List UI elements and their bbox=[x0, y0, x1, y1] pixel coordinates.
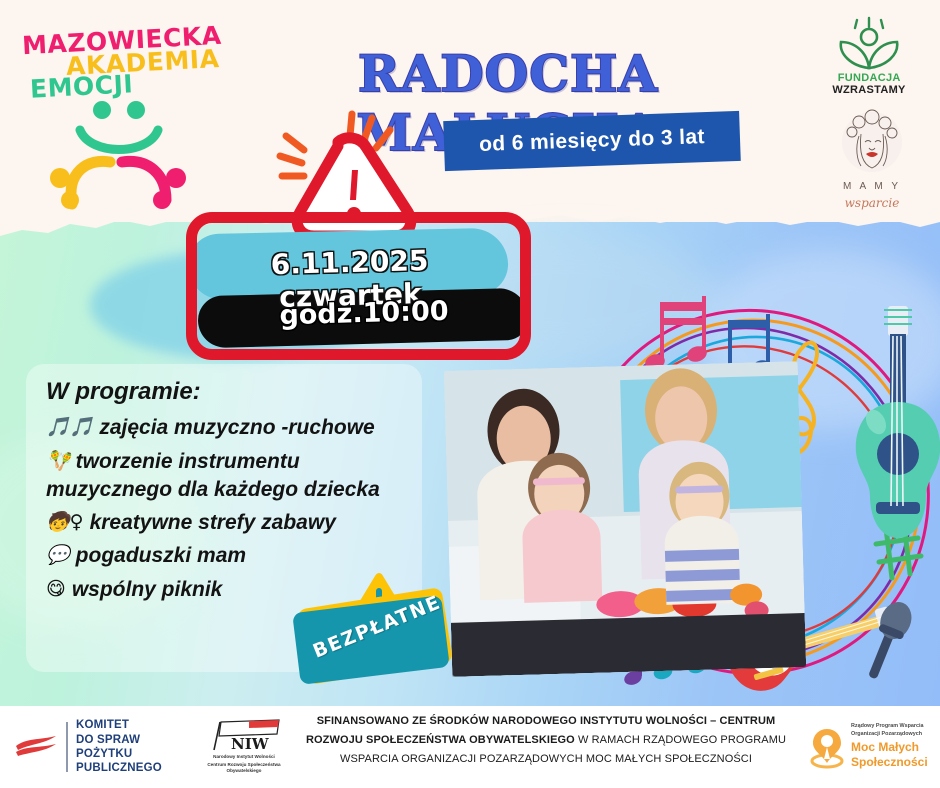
komitet-line-1: KOMITET bbox=[76, 718, 162, 732]
moc-big-2: Społeczności bbox=[851, 756, 936, 769]
age-range-label: od 6 miesięcy do 3 lat bbox=[443, 111, 741, 171]
logo-komitet: KOMITET DO SPRAW POŻYTKU PUBLICZNEGO bbox=[14, 716, 162, 778]
logo-mamy-word2: wsparcie bbox=[845, 196, 900, 210]
funding-line-2-bold: ROZWOJU SPOŁECZEŃSTWA OBYWATELSKIEGO bbox=[306, 734, 575, 746]
free-badge: BEZPŁATNE bbox=[296, 592, 454, 680]
programme-item-continuation: muzycznego dla każdego dziecka bbox=[46, 478, 406, 502]
acoustic-guitar-icon bbox=[846, 306, 940, 568]
logo-fw-word1: FUNDACJA bbox=[838, 72, 901, 84]
logo-fw-text: FUNDACJA WZRASTAMY bbox=[806, 72, 932, 96]
logo-niw: NIW Narodowy Instytut Wolności Centrum R… bbox=[196, 718, 292, 775]
event-photo bbox=[444, 361, 806, 677]
smiling-face-icon: 😋 bbox=[46, 578, 66, 602]
logo-mamy-wsparcie: M A M Y wsparcie bbox=[816, 106, 928, 200]
speech-bubble-icon: 💬 bbox=[46, 544, 70, 568]
photo-subjects bbox=[444, 361, 806, 677]
niw-sub-2: Centrum Rozwoju Społeczeństwa Obywatelsk… bbox=[196, 762, 292, 774]
maracas-icon: 🪇 bbox=[46, 450, 70, 474]
komitet-line-3: POŻYTKU bbox=[76, 747, 162, 761]
floral-woman-icon bbox=[835, 106, 909, 176]
logo-moc-malych-spolecznosci: Rządowy Program Wsparcia Organizacji Poz… bbox=[808, 714, 936, 778]
programme-item-label: wspólny piknik bbox=[72, 578, 223, 603]
funding-line-1: SFINANSOWANO ZE ŚRODKÓW NARODOWEGO INSTY… bbox=[317, 715, 776, 727]
programme-item-label: tworzenie instrumentu bbox=[76, 450, 300, 475]
svg-text:NIW: NIW bbox=[231, 735, 270, 753]
logo-fw-word2: WZRASTAMY bbox=[832, 84, 905, 96]
programme-item: 🪇 tworzenie instrumentu bbox=[46, 450, 406, 475]
polish-flag-icon bbox=[14, 734, 58, 760]
music-notes-icon: 🎵🎵 bbox=[46, 416, 93, 440]
programme-item: 🎵🎵 zajęcia muzyczno -ruchowe bbox=[46, 416, 406, 441]
programme-item-label: zajęcia muzyczno -ruchowe bbox=[99, 416, 374, 441]
komitet-line-4: PUBLICZNEGO bbox=[76, 761, 162, 775]
smiley-person-icon bbox=[44, 96, 194, 212]
child-play-icon: 🧒♀ bbox=[46, 511, 84, 535]
niw-sub-1: Narodowy Instytut Wolności bbox=[196, 754, 292, 760]
niw-mark-icon: NIW bbox=[205, 718, 283, 752]
moc-small-text: Rządowy Program Wsparcia Organizacji Poz… bbox=[851, 723, 936, 739]
programme-item: 💬 pogaduszki mam bbox=[46, 544, 406, 569]
microphone-icon bbox=[862, 600, 918, 686]
moc-mark-icon bbox=[808, 723, 846, 769]
poster-root: MAZOWIECKA AKADEMIA EMOCJI RADOCHA MALUC… bbox=[0, 0, 940, 788]
moc-text: Rządowy Program Wsparcia Organizacji Poz… bbox=[851, 723, 936, 769]
divider bbox=[66, 722, 68, 772]
age-range-banner: od 6 miesięcy do 3 lat bbox=[443, 111, 741, 171]
programme-item-label: kreatywne strefy zabawy bbox=[90, 511, 336, 536]
logo-mamy-word1: M A M Y bbox=[843, 181, 901, 192]
funding-line-3: WSPARCIA ORGANIZACJI POZARZĄDOWYCH MOC M… bbox=[292, 750, 800, 769]
logo-komitet-text: KOMITET DO SPRAW POŻYTKU PUBLICZNEGO bbox=[76, 718, 162, 776]
programme-heading: W programie: bbox=[46, 378, 406, 406]
logo-mamy-text: M A M Y wsparcie bbox=[816, 176, 928, 212]
logo-fundacja-wzrastamy: FUNDACJA WZRASTAMY bbox=[806, 18, 932, 98]
komitet-line-2: DO SPRAW bbox=[76, 733, 162, 747]
funding-statement: SFINANSOWANO ZE ŚRODKÓW NARODOWEGO INSTY… bbox=[292, 712, 800, 769]
funding-line-2-rest: W RAMACH RZĄDOWEGO PROGRAMU bbox=[575, 734, 786, 746]
sprout-sun-icon bbox=[827, 18, 911, 70]
programme-item-label: pogaduszki mam bbox=[76, 544, 246, 569]
moc-big-1: Moc Małych bbox=[851, 741, 936, 754]
programme-item: 🧒♀ kreatywne strefy zabawy bbox=[46, 511, 406, 536]
brand-logo: MAZOWIECKA AKADEMIA EMOCJI bbox=[14, 22, 224, 212]
